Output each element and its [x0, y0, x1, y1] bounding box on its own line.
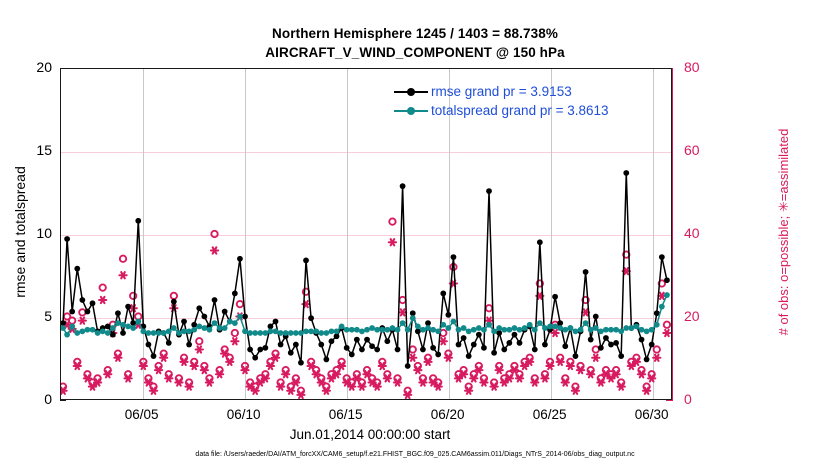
y-tick-label-right: 60	[684, 142, 700, 158]
y-tick-label-left: 5	[0, 308, 52, 324]
chart-legend: rmse grand pr = 3.9153 totalspread grand…	[394, 82, 634, 120]
y-tick-label-left: 0	[0, 391, 52, 407]
legend-item-rmse: rmse grand pr = 3.9153	[394, 82, 634, 101]
y-tick-label-left: 20	[0, 59, 52, 75]
x-tick-label: 06/10	[204, 407, 284, 422]
title-line-1: Northern Hemisphere 1245 / 1403 = 88.738…	[0, 24, 830, 43]
x-axis-label: Jun.01,2014 00:00:00 start	[0, 427, 740, 442]
y-tick-label-right: 80	[684, 59, 700, 75]
y-tick-mark-left	[60, 400, 66, 401]
y-tick-label-right: 20	[684, 308, 700, 324]
x-tick-label: 06/30	[612, 407, 692, 422]
legend-item-totalspread: totalspread grand pr = 3.8613	[394, 101, 634, 120]
x-tick-label: 06/05	[102, 407, 182, 422]
x-tick-label: 06/25	[510, 407, 590, 422]
y-tick-label-right: 0	[684, 391, 692, 407]
x-tick-label: 06/20	[408, 407, 488, 422]
x-tick-label: 06/15	[306, 407, 386, 422]
title-line-2: AIRCRAFT_V_WIND_COMPONENT @ 150 hPa	[0, 43, 830, 62]
chart-title: Northern Hemisphere 1245 / 1403 = 88.738…	[0, 24, 830, 62]
totalspread-series	[61, 292, 670, 337]
y-tick-label-right: 40	[684, 225, 700, 241]
y-tick-label-left: 15	[0, 142, 52, 158]
legend-label-totalspread: totalspread grand pr = 3.8613	[431, 103, 609, 118]
legend-label-rmse: rmse grand pr = 3.9153	[431, 84, 572, 99]
legend-marker-totalspread	[394, 105, 428, 117]
legend-marker-rmse	[394, 86, 428, 98]
obs-assimilated-markers	[61, 239, 671, 398]
data-file-note: data file: /Users/raeder/DAI/ATM_forcXX/…	[0, 451, 830, 458]
y-tick-label-left: 10	[0, 225, 52, 241]
rmse-series	[61, 170, 670, 369]
chart-figure: Northern Hemisphere 1245 / 1403 = 88.738…	[0, 0, 830, 470]
y-axis-label-right: # of obs: o=possible; ✳=assimilated	[776, 82, 792, 382]
